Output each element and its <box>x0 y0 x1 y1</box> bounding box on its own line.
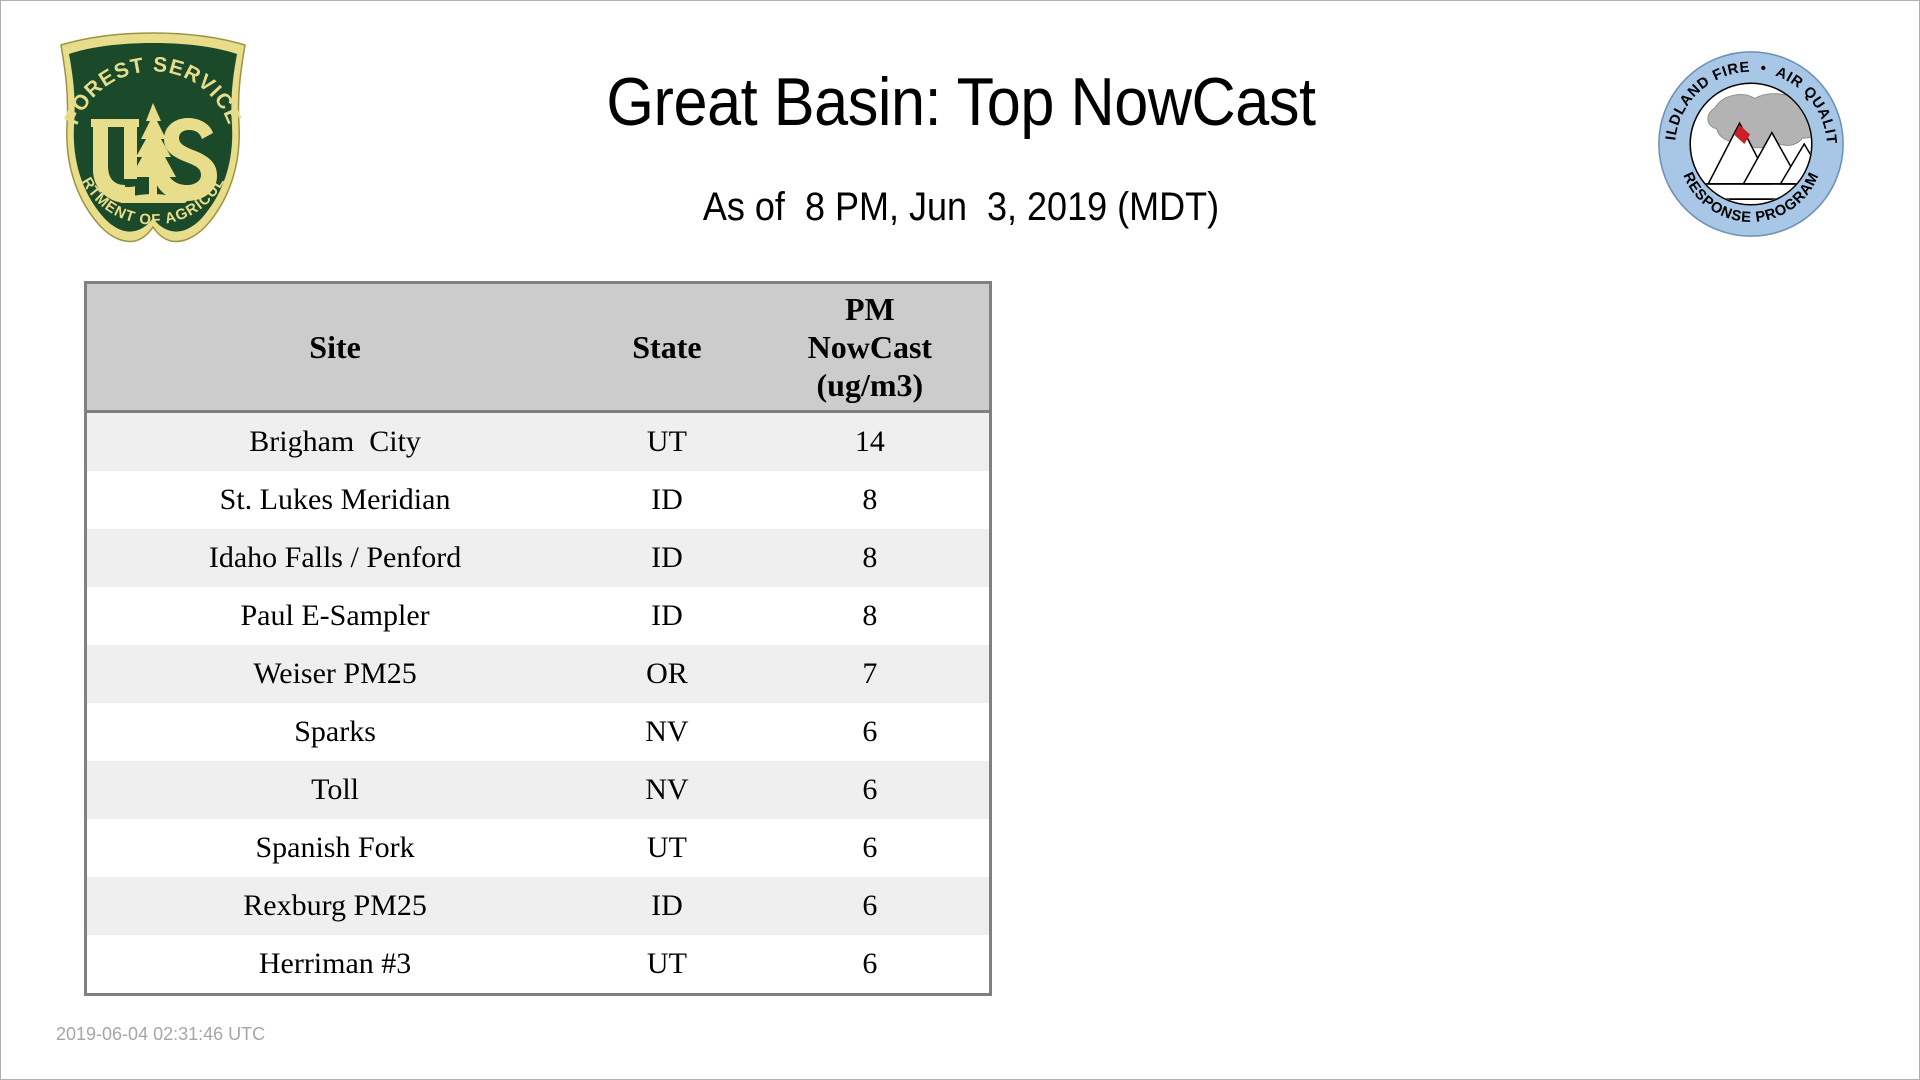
table-row: Herriman #3 UT 6 <box>86 935 991 995</box>
page-subtitle: As of 8 PM, Jun 3, 2019 (MDT) <box>97 183 1825 231</box>
table-row: Brigham City UT 14 <box>86 412 991 472</box>
cell-pm: 6 <box>751 877 991 935</box>
cell-pm: 7 <box>751 645 991 703</box>
table-row: Weiser PM25 OR 7 <box>86 645 991 703</box>
cell-state: UT <box>583 412 751 472</box>
cell-site: Sparks <box>86 703 584 761</box>
header-band: FOREST SERVICE DEPARTMENT OF AGRICULTURE… <box>1 1 1919 271</box>
column-header-state: State <box>583 283 751 412</box>
cell-pm: 6 <box>751 703 991 761</box>
cell-state: NV <box>583 761 751 819</box>
table-row: St. Lukes Meridian ID 8 <box>86 471 991 529</box>
table-header-row: Site State PM NowCast (ug/m3) <box>86 283 991 412</box>
cell-site: Idaho Falls / Penford <box>86 529 584 587</box>
cell-state: UT <box>583 819 751 877</box>
table-row: Toll NV 6 <box>86 761 991 819</box>
cell-site: Paul E-Sampler <box>86 587 584 645</box>
cell-state: OR <box>583 645 751 703</box>
nowcast-table: Site State PM NowCast (ug/m3) Brigham Ci… <box>84 281 992 996</box>
table-row: Rexburg PM25 ID 6 <box>86 877 991 935</box>
table-row: Idaho Falls / Penford ID 8 <box>86 529 991 587</box>
nowcast-table-container: Site State PM NowCast (ug/m3) Brigham Ci… <box>84 281 992 996</box>
cell-pm: 6 <box>751 761 991 819</box>
cell-pm: 8 <box>751 471 991 529</box>
cell-site: Toll <box>86 761 584 819</box>
column-header-site: Site <box>86 283 584 412</box>
cell-pm: 6 <box>751 935 991 995</box>
cell-pm: 6 <box>751 819 991 877</box>
cell-state: ID <box>583 471 751 529</box>
cell-pm: 8 <box>751 529 991 587</box>
cell-site: Rexburg PM25 <box>86 877 584 935</box>
cell-site: Weiser PM25 <box>86 645 584 703</box>
cell-site: St. Lukes Meridian <box>86 471 584 529</box>
table-row: Spanish Fork UT 6 <box>86 819 991 877</box>
page-title: Great Basin: Top NowCast <box>97 63 1825 141</box>
table-row: Paul E-Sampler ID 8 <box>86 587 991 645</box>
cell-state: ID <box>583 587 751 645</box>
cell-pm: 14 <box>751 412 991 472</box>
table-body: Brigham City UT 14 St. Lukes Meridian ID… <box>86 412 991 995</box>
cell-state: ID <box>583 877 751 935</box>
cell-state: ID <box>583 529 751 587</box>
cell-site: Herriman #3 <box>86 935 584 995</box>
wildland-fire-air-quality-logo-icon: WILDLAND FIRE • AIR QUALITY RESPONSE PRO… <box>1656 49 1846 239</box>
footer-timestamp: 2019-06-04 02:31:46 UTC <box>56 1023 265 1045</box>
table-header: Site State PM NowCast (ug/m3) <box>86 283 991 412</box>
cell-site: Spanish Fork <box>86 819 584 877</box>
nowcast-report-page: { "header": { "title": "Great Basin: Top… <box>0 0 1920 1080</box>
cell-site: Brigham City <box>86 412 584 472</box>
cell-pm: 8 <box>751 587 991 645</box>
cell-state: UT <box>583 935 751 995</box>
cell-state: NV <box>583 703 751 761</box>
table-row: Sparks NV 6 <box>86 703 991 761</box>
column-header-pm-nowcast: PM NowCast (ug/m3) <box>751 283 991 412</box>
